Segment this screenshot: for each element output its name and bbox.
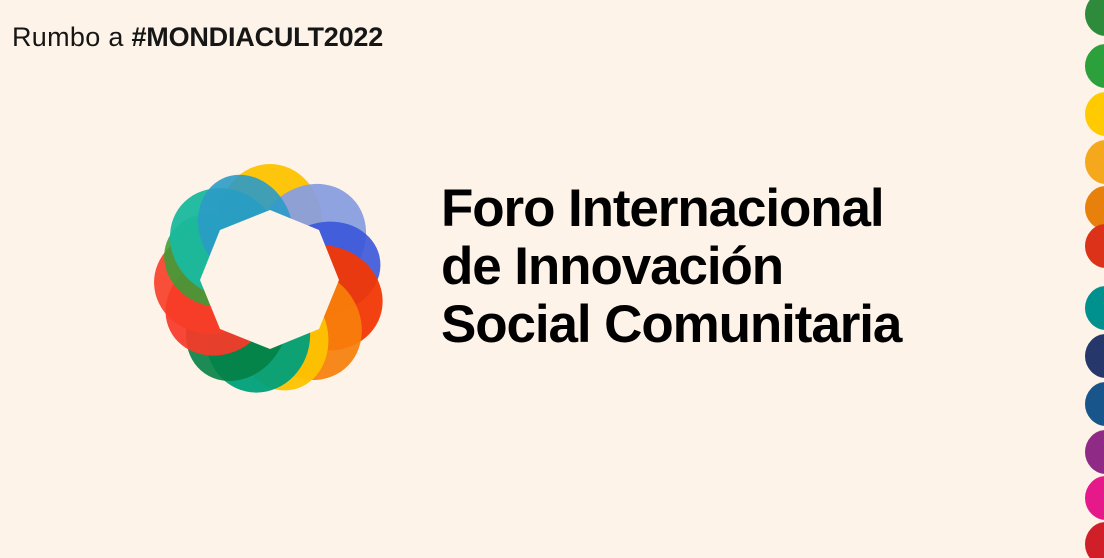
sdg-dot-8 [1085, 334, 1104, 378]
kicker-line: Rumbo a #MONDIACULT2022 [12, 24, 383, 51]
event-logo [108, 118, 432, 442]
ring-logo-graphic [108, 118, 432, 442]
sdg-dot-7 [1085, 286, 1104, 330]
sdg-dot-9 [1085, 382, 1104, 426]
logo-center-hole [200, 210, 339, 349]
kicker-hashtag: #MONDIACULT2022 [131, 22, 383, 52]
sdg-dot-12 [1085, 522, 1104, 558]
sdg-dot-6 [1085, 224, 1104, 268]
event-banner: Rumbo a #MONDIACULT2022 [0, 0, 1104, 558]
sdg-dot-10 [1085, 430, 1104, 474]
sdg-dot-1 [1085, 0, 1104, 36]
title-line-3: Social Comunitaria [441, 296, 1041, 354]
sdg-dot-3 [1085, 92, 1104, 136]
sdg-dot-4 [1085, 140, 1104, 184]
kicker-lead-text: Rumbo a [12, 22, 131, 52]
title-line-1: Foro Internacional [441, 180, 1041, 238]
sdg-dot-11 [1085, 476, 1104, 520]
sdg-color-rail [1080, 0, 1104, 558]
sdg-dot-2 [1085, 44, 1104, 88]
title-line-2: de Innovación [441, 238, 1041, 296]
page-title: Foro Internacional de Innovación Social … [441, 180, 1041, 354]
